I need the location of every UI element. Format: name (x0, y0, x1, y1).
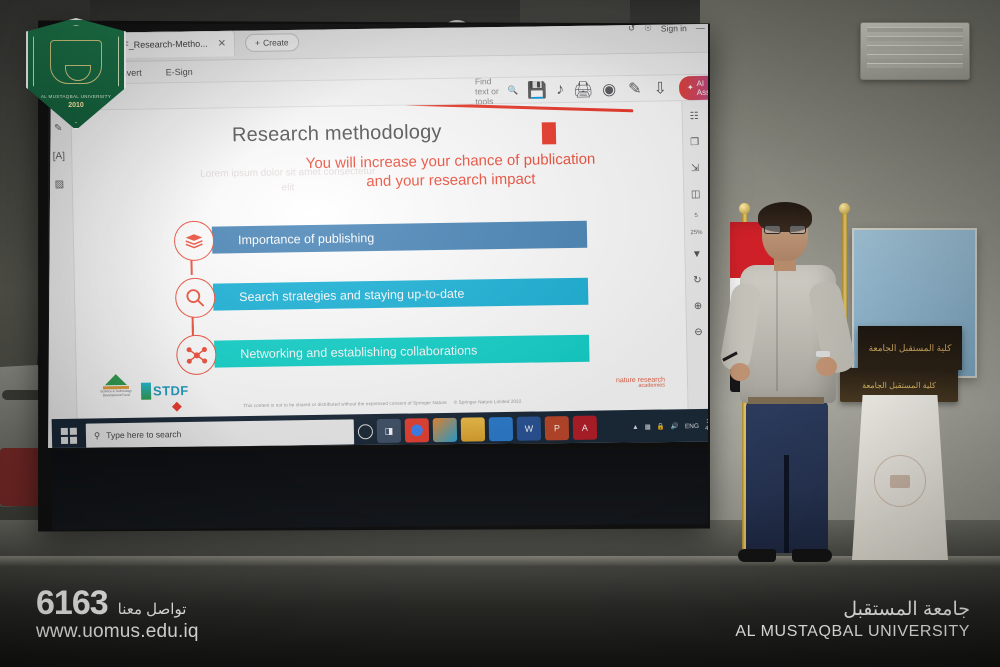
university-name-ar: جامعة المستقبل (735, 598, 970, 621)
footer-logos: Science & Technology Development Fund ST… (99, 373, 189, 400)
create-button-label: Create (263, 37, 289, 47)
wall-plaque-text: كلية المستقبل الجامعة (869, 343, 952, 354)
headphones-icon[interactable]: ♪ (556, 83, 564, 97)
projection-screen-lower (52, 450, 708, 530)
university-logo: AL MUSTAQBAL UNIVERSITY 2010 (26, 18, 126, 130)
find-placeholder: Find text or tools (475, 76, 503, 106)
zoom-level: 25% (690, 230, 702, 236)
search-icon[interactable]: 🔍 (507, 85, 518, 96)
contact-label-ar: تواصل معنا (118, 600, 187, 618)
wristwatch-icon (816, 351, 830, 357)
logo-caption: AL MUSTAQBAL UNIVERSITY (26, 94, 126, 99)
sign-in-link[interactable]: Sign in (661, 24, 687, 33)
university-name-en: AL MUSTAQBAL UNIVERSITY (735, 623, 970, 641)
zoom-in-icon[interactable]: ⊕ (690, 299, 705, 314)
stdf-logo: STDF (141, 382, 189, 400)
fit-page-icon[interactable]: ▼ (689, 247, 704, 262)
minimize-button[interactable]: — (696, 24, 705, 32)
copy-icon[interactable]: ❐ (687, 135, 702, 150)
volume-icon[interactable]: 🔊 (671, 422, 679, 430)
clock-time: 11:21 PM (706, 419, 708, 425)
slide-title: Research methodology (232, 121, 442, 147)
search-input[interactable]: ⚲ Type here to search (86, 419, 354, 448)
disclaimer-text: This content is not to be shared or dist… (243, 400, 447, 408)
list-item: Search strategies and staying up-to-date (175, 272, 596, 326)
file-explorer-icon[interactable] (461, 417, 485, 441)
asrt-logo-icon: Science & Technology Development Fund (99, 374, 134, 401)
history-icon[interactable]: ↺ (628, 24, 635, 34)
projected-desktop: ☆ STDF_Research-Metho... ✕ + Create ↺ ☉ … (48, 24, 708, 448)
bell-icon[interactable]: ☉ (644, 24, 652, 34)
stamp-icon[interactable]: ◉ (602, 82, 616, 96)
scene-root: كلية المستقبل الجامعة كلية المستقبل الجا… (0, 0, 1000, 667)
item-label-2: Search strategies and staying up-to-date (239, 286, 464, 304)
rotate-icon[interactable]: ↻ (690, 273, 705, 288)
word-icon[interactable]: W (517, 416, 541, 440)
logo-year: 2010 (26, 102, 126, 109)
titlebar-right-group: ↺ ☉ Sign in — ◻ ✕ (628, 24, 708, 34)
close-icon[interactable]: ✕ (218, 38, 227, 49)
item-bar-2: Search strategies and staying up-to-date (213, 278, 588, 311)
slide-subtitle: You will increase your chance of publica… (250, 150, 651, 194)
item-bar-1: Importance of publishing (212, 221, 587, 254)
presenter-shoe-left (738, 549, 776, 562)
contact-phone: 6163 (36, 586, 108, 620)
windows-start-icon[interactable] (56, 423, 83, 448)
presenter (724, 205, 854, 565)
nature-logo-line2: academies (616, 384, 665, 391)
podium-plaque-text: كلية المستقبل الجامعة (862, 381, 936, 390)
slide: Research methodology Lorem ipsum dolor s… (71, 101, 687, 419)
print-icon[interactable]: 🖨 (576, 82, 590, 96)
university-name-banner: جامعة المستقبل AL MUSTAQBAL UNIVERSITY (735, 598, 970, 641)
page-number: 5 (694, 213, 697, 219)
cortana-icon[interactable] (358, 424, 373, 439)
zoom-out-icon[interactable]: ⊖ (691, 325, 706, 340)
search-placeholder: Type here to search (106, 429, 181, 440)
edge-icon[interactable] (433, 418, 457, 442)
ai-assistant-label: AI Assistant (696, 78, 708, 97)
clock-date: 4/20/2024 (705, 425, 708, 431)
chair-seat (0, 448, 40, 506)
ai-assistant-button[interactable]: ✦ AI Assistant (679, 75, 708, 100)
eyeglasses-icon (764, 225, 806, 234)
chrome-icon[interactable] (405, 418, 429, 442)
presenter-shoe-right (792, 549, 832, 562)
list-item: Importance of publishing (174, 215, 595, 269)
copyright-text: © Springer Nature Limited 2022 (454, 399, 522, 405)
language-indicator[interactable]: ENG (685, 422, 699, 429)
create-button[interactable]: + Create (245, 33, 299, 52)
asrt-logo-caption: Science & Technology Development Fund (99, 390, 133, 398)
books-icon (174, 221, 215, 262)
chevron-up-icon[interactable]: ▲ (632, 423, 639, 430)
item-label-3: Networking and establishing collaboratio… (240, 343, 477, 361)
annotation-red-marker (542, 122, 556, 144)
nature-research-academies-logo: nature research academies (616, 376, 665, 390)
network-icon[interactable]: ▦ (645, 423, 651, 431)
stdf-logo-label: STDF (153, 383, 189, 399)
security-icon[interactable]: 🔒 (657, 423, 665, 431)
pdf-document-area[interactable]: Research methodology Lorem ipsum dolor s… (71, 101, 687, 419)
page-thumbnails-icon[interactable]: ☷ (687, 109, 702, 124)
contact-banner: 6163 تواصل معنا www.uomus.edu.iq (36, 586, 199, 643)
magnifier-icon (175, 278, 216, 319)
network-icon (176, 335, 217, 376)
item-label-1: Importance of publishing (238, 231, 374, 247)
mail-icon[interactable] (489, 417, 513, 441)
search-icon: ⚲ (94, 430, 100, 441)
acrobat-icon[interactable]: A (573, 416, 597, 440)
find-input[interactable]: Find text or tools 🔍 (475, 75, 519, 106)
organize-icon[interactable]: ◫ (688, 187, 703, 202)
website-url: www.uomus.edu.iq (36, 621, 199, 643)
menu-item-esign[interactable]: E-Sign (166, 66, 193, 76)
podium-emblem-icon (874, 455, 926, 507)
clock[interactable]: 11:21 PM 4/20/2024 (705, 419, 708, 433)
item-bar-3: Networking and establishing collaboratio… (214, 335, 589, 368)
air-conditioner-vent (860, 22, 970, 80)
logo-emblem-icon (50, 40, 102, 84)
export-icon[interactable]: ⇲ (688, 161, 703, 176)
powerpoint-icon[interactable]: P (545, 416, 569, 440)
slide-footer: Science & Technology Development Fund ST… (77, 363, 688, 415)
plus-icon: + (255, 37, 260, 47)
export-pdf-icon[interactable]: ⇩ (653, 81, 667, 95)
wall-plaque: كلية المستقبل الجامعة (858, 326, 962, 370)
highlight-icon[interactable]: ▨ (52, 177, 67, 192)
text-edit-icon[interactable]: [A] (51, 149, 66, 164)
pen-icon[interactable]: ✎ (628, 81, 642, 95)
system-tray: ▲ ▦ 🔒 🔊 ENG 11:21 PM 4/20/2024 ▢ (632, 418, 708, 434)
save-icon[interactable]: 💾 (530, 83, 544, 97)
task-view-icon[interactable]: ◨ (377, 419, 401, 443)
sparkle-icon: ✦ (687, 83, 694, 92)
